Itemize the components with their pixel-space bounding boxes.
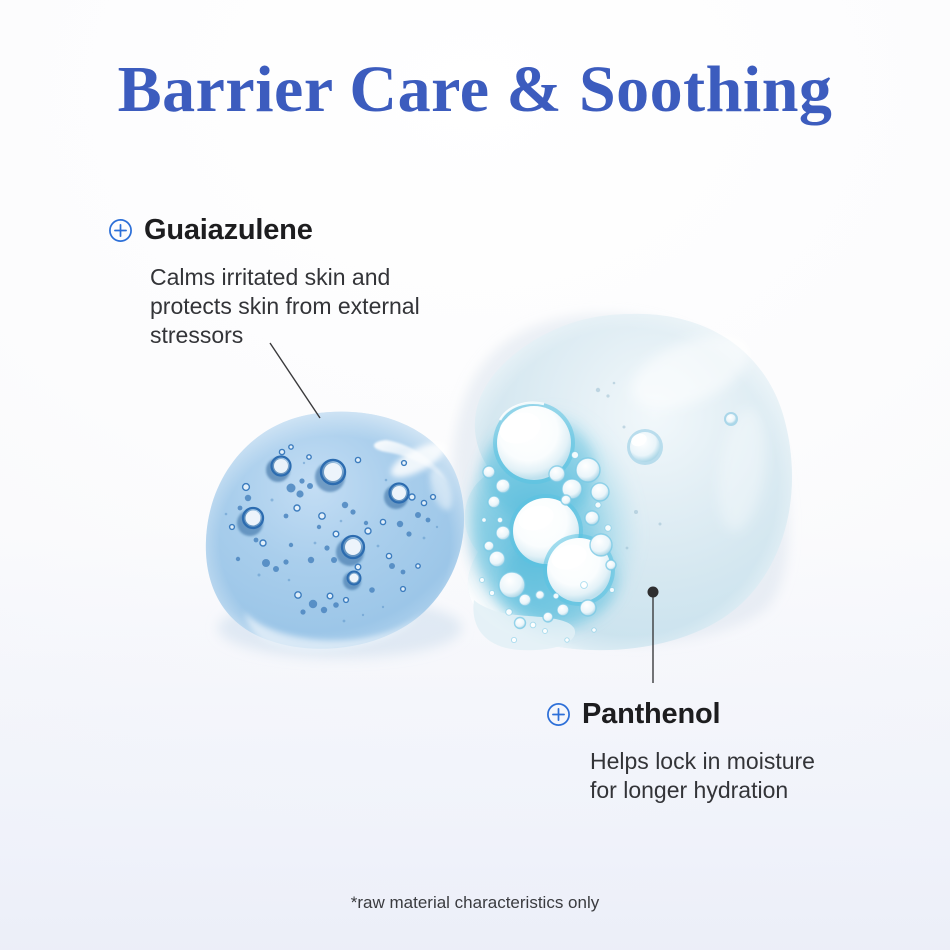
ingredient-name-guaiazulene: Guaiazulene xyxy=(144,216,313,245)
ingredient-panthenol: Panthenol Helps lock in moisture for lon… xyxy=(546,700,815,805)
ingredient-description-guaiazulene: Calms irritated skin and protects skin f… xyxy=(150,263,420,350)
plus-circle-icon xyxy=(108,218,133,243)
ingredient-heading-panthenol: Panthenol xyxy=(546,700,815,729)
description-line: for longer hydration xyxy=(590,776,815,805)
ingredient-name-panthenol: Panthenol xyxy=(582,700,720,729)
leader-line-panthenol xyxy=(648,587,659,684)
leader-line-guaiazulene xyxy=(270,343,320,418)
description-line: stressors xyxy=(150,321,420,350)
infographic-canvas: Barrier Care & Soothing Guaiazulene Calm… xyxy=(0,0,950,950)
plus-circle-icon xyxy=(546,702,571,727)
footnote: *raw material characteristics only xyxy=(0,893,950,913)
description-line: Calms irritated skin and xyxy=(150,263,420,292)
ingredient-heading-guaiazulene: Guaiazulene xyxy=(108,216,420,245)
clear-gel-droplet xyxy=(453,314,792,650)
blue-gel-droplet xyxy=(206,412,464,658)
gel-droplet-artwork xyxy=(0,0,950,950)
description-line: protects skin from external xyxy=(150,292,420,321)
page-title: Barrier Care & Soothing xyxy=(0,52,950,128)
ingredient-guaiazulene: Guaiazulene Calms irritated skin and pro… xyxy=(108,216,420,350)
description-line: Helps lock in moisture xyxy=(590,747,815,776)
leader-dot-panthenol xyxy=(648,587,659,598)
ingredient-description-panthenol: Helps lock in moisture for longer hydrat… xyxy=(590,747,815,805)
